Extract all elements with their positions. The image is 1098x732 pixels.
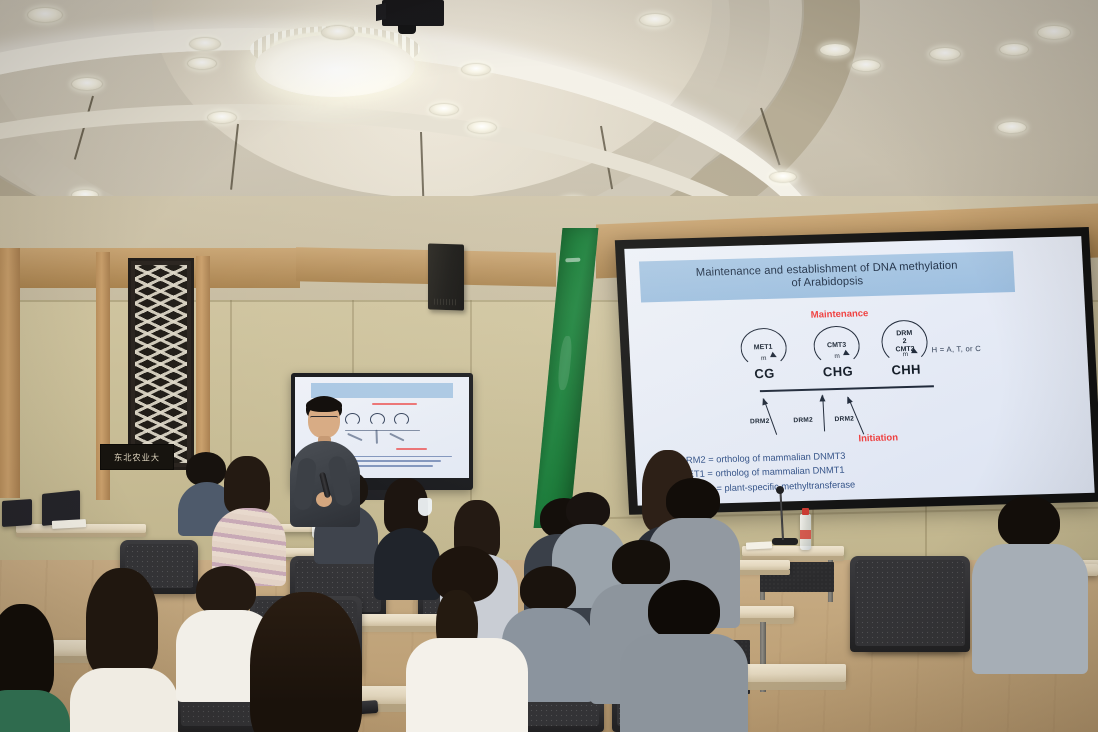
downlight-icon xyxy=(462,64,490,75)
audience-torso xyxy=(406,638,528,732)
face-mask xyxy=(418,498,432,516)
chevron-lattice-panel xyxy=(128,258,194,470)
presenter xyxy=(286,396,372,526)
enzyme-label: MET1 xyxy=(754,344,773,353)
audience-hair xyxy=(186,452,226,486)
slide-label-maintenance: Maintenance xyxy=(810,308,868,321)
downlight-icon xyxy=(998,122,1026,133)
projection-screen-surface: Maintenance and establishment of DNA met… xyxy=(624,236,1094,505)
audience-hair xyxy=(998,496,1060,548)
wall-speaker-icon xyxy=(428,243,464,310)
chandelier xyxy=(255,35,415,97)
slide-legend-h: H = A, T, or C xyxy=(931,344,981,354)
mesh-chair xyxy=(850,556,970,652)
enzyme-met1: MET1 xyxy=(739,327,787,368)
audience-hair xyxy=(666,478,720,522)
papers xyxy=(746,541,772,549)
audience-torso xyxy=(620,634,748,732)
mini-label-maintenance xyxy=(372,403,417,405)
initiation-label-2: DRM2 xyxy=(793,417,813,425)
audience-hair xyxy=(250,592,362,732)
initiation-label-3: DRM2 xyxy=(834,416,854,424)
downlight-icon xyxy=(820,44,850,56)
initiation-label-1: DRM2 xyxy=(750,418,770,426)
downlight-icon xyxy=(72,78,102,90)
downlight-icon xyxy=(190,38,220,50)
methyl-mark: m xyxy=(761,355,767,362)
diagram-baseline xyxy=(760,386,934,392)
mini-enzyme-circle xyxy=(370,413,385,426)
slide-label-initiation: Initiation xyxy=(858,433,898,445)
downlight-icon xyxy=(208,112,236,123)
audience-torso xyxy=(374,528,440,600)
venue-sign: 东北农业大 xyxy=(100,444,174,470)
slide-content: Maintenance and establishment of DNA met… xyxy=(624,236,1094,505)
downlight-icon xyxy=(188,58,216,69)
microphone-capsule xyxy=(776,486,784,494)
downlight-icon xyxy=(852,60,880,71)
desk-edge xyxy=(16,533,146,537)
slide-bullet-list: DRM2 = ortholog of mammalian DNMT3 MET1 … xyxy=(674,442,1069,497)
initiation-arrow xyxy=(822,395,825,431)
downlight-icon xyxy=(468,122,496,133)
methyl-mark: m xyxy=(834,353,840,360)
methyl-mark: m xyxy=(902,351,908,358)
mini-initiation-arrow xyxy=(389,432,404,440)
audience-hair xyxy=(612,540,670,588)
audience-hair xyxy=(520,566,576,612)
lecture-hall-photo: 东北农业大 Maintenance and establishment of D… xyxy=(0,0,1098,732)
downlight-icon xyxy=(1038,26,1070,39)
venue-sign-text: 东北农业大 xyxy=(114,451,160,463)
downlight-icon xyxy=(1000,44,1028,55)
audience-hair xyxy=(648,580,720,640)
audience-hair xyxy=(196,566,256,616)
downlight-icon xyxy=(770,172,796,182)
microphone-base xyxy=(772,538,798,545)
context-cg: MET1 m CG xyxy=(754,366,775,382)
downlight-icon xyxy=(640,14,670,26)
enzyme-label: DRM xyxy=(896,330,912,338)
slide-title-band: Maintenance and establishment of DNA met… xyxy=(639,251,1016,303)
enzyme-cmt3: CMT3 xyxy=(813,325,861,366)
sequence-cg: CG xyxy=(754,366,775,382)
audience-hair xyxy=(224,456,270,514)
glasses-icon xyxy=(310,416,338,421)
context-chg: CMT3 m CHG xyxy=(823,363,854,379)
audience-hair xyxy=(86,568,158,676)
enzyme-label: CMT3 xyxy=(827,341,846,350)
initiation-arrow xyxy=(763,398,777,434)
context-chh: DRM 2 CMT2 m CHH xyxy=(891,361,921,377)
enzyme-label-2: 2 xyxy=(903,338,907,346)
downlight-icon xyxy=(930,48,960,60)
audience-torso xyxy=(972,544,1088,674)
presenter-hair-top xyxy=(306,398,342,412)
mini-enzyme-circle xyxy=(394,413,409,426)
slide-title: Maintenance and establishment of DNA met… xyxy=(691,259,964,294)
audience-torso xyxy=(70,668,178,732)
audience-hair xyxy=(0,604,54,700)
wood-trim-band xyxy=(296,247,556,286)
mini-initiation-arrow xyxy=(376,429,378,443)
audience-hair xyxy=(566,492,610,528)
downlight-icon xyxy=(28,8,62,22)
mini-label-initiation xyxy=(396,448,427,450)
downlight-icon xyxy=(430,104,458,115)
slide-title-line2: of Arabidopsis xyxy=(791,276,863,290)
downlight-icon xyxy=(322,26,354,39)
laptop xyxy=(2,499,32,527)
water-bottle xyxy=(800,514,811,550)
ceiling-projector-icon xyxy=(382,0,444,26)
chair-mesh-back xyxy=(855,560,965,646)
wall-pilaster xyxy=(0,248,20,498)
